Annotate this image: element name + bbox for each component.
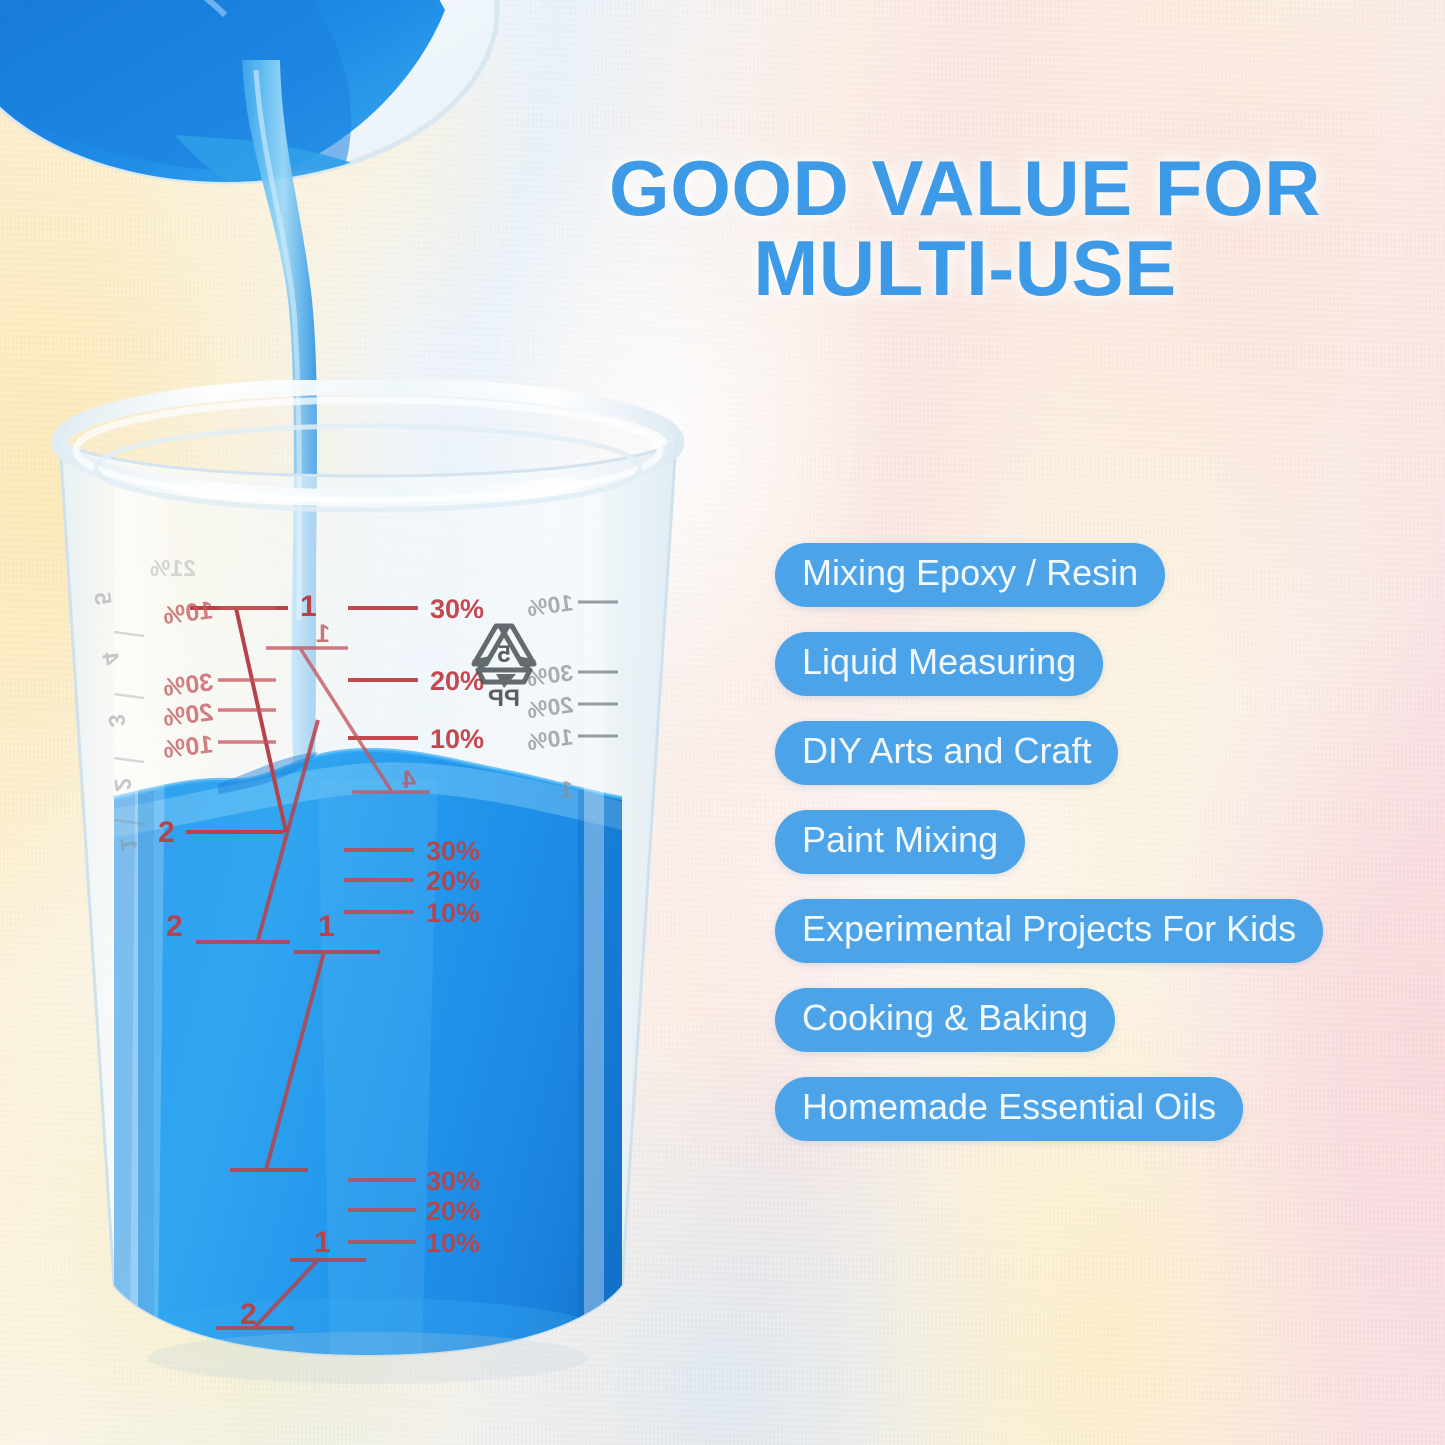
feature-pill-paint-mixing[interactable]: Paint Mixing <box>775 810 1025 874</box>
percent-label-30: 30% <box>426 836 480 866</box>
feature-pill-experimental-projects-for-kids[interactable]: Experimental Projects For Kids <box>775 899 1323 963</box>
feature-pill-list: Mixing Epoxy / Resin Liquid Measuring DI… <box>775 543 1323 1166</box>
percent-label-30: 30% <box>430 594 484 624</box>
headline: GOOD VALUE FOR MULTI-USE <box>500 148 1430 309</box>
percent-label-20: 20% <box>426 1196 480 1226</box>
svg-text:4: 4 <box>402 766 416 794</box>
headline-line-1: GOOD VALUE FOR <box>609 144 1321 232</box>
svg-text:1: 1 <box>316 620 330 648</box>
feature-row: Mixing Epoxy / Resin <box>775 543 1323 632</box>
headline-line-2: MULTI-USE <box>500 228 1430 308</box>
feature-pill-mixing-epoxy-resin[interactable]: Mixing Epoxy / Resin <box>775 543 1165 607</box>
feature-pill-diy-arts-and-craft[interactable]: DIY Arts and Craft <box>775 721 1118 785</box>
percent-label-20: 20% <box>426 866 480 896</box>
feature-pill-liquid-measuring[interactable]: Liquid Measuring <box>775 632 1103 696</box>
feature-pill-cooking-and-baking[interactable]: Cooking & Baking <box>775 988 1115 1052</box>
feature-row: DIY Arts and Craft <box>775 721 1323 810</box>
percent-label-30: 30% <box>426 1166 480 1196</box>
feature-row: Paint Mixing <box>775 810 1323 899</box>
feature-row: Experimental Projects For Kids <box>775 899 1323 988</box>
recycling-material: PP <box>488 685 520 712</box>
percent-label-10: 10% <box>426 898 480 928</box>
feature-row: Liquid Measuring <box>775 632 1323 721</box>
measuring-cup: 1 2 30% 20% 10% 1 <box>18 380 718 1400</box>
ratio-label-1: 1 <box>300 590 317 623</box>
recycling-code: 5 <box>497 641 510 668</box>
pouring-cup: measuring cup <box>0 0 505 195</box>
liquid-light-column <box>318 780 438 1355</box>
backwall-faint-mark: 21% <box>150 555 196 581</box>
liquid-shade <box>0 0 351 173</box>
product-marketing-image: GOOD VALUE FOR MULTI-USE Mixing Epoxy / … <box>0 0 1445 1445</box>
ratio-label-2: 2 <box>240 1298 257 1331</box>
pouring-cup-contents: measuring cup <box>0 0 445 195</box>
feature-row: Homemade Essential Oils <box>775 1077 1323 1166</box>
ratio-label-1: 1 <box>318 910 335 943</box>
ratio-label-1: 1 <box>314 1226 331 1259</box>
percent-label-10: 10% <box>426 1228 480 1258</box>
ratio-label-2: 2 <box>166 910 183 943</box>
cup-rim <box>60 386 676 510</box>
percent-label-10: 10% <box>430 724 484 754</box>
feature-pill-homemade-essential-oils[interactable]: Homemade Essential Oils <box>775 1077 1243 1141</box>
cup-base-shadow <box>148 1332 588 1384</box>
ratio-label-2: 2 <box>158 816 175 849</box>
feature-row: Cooking & Baking <box>775 988 1323 1077</box>
